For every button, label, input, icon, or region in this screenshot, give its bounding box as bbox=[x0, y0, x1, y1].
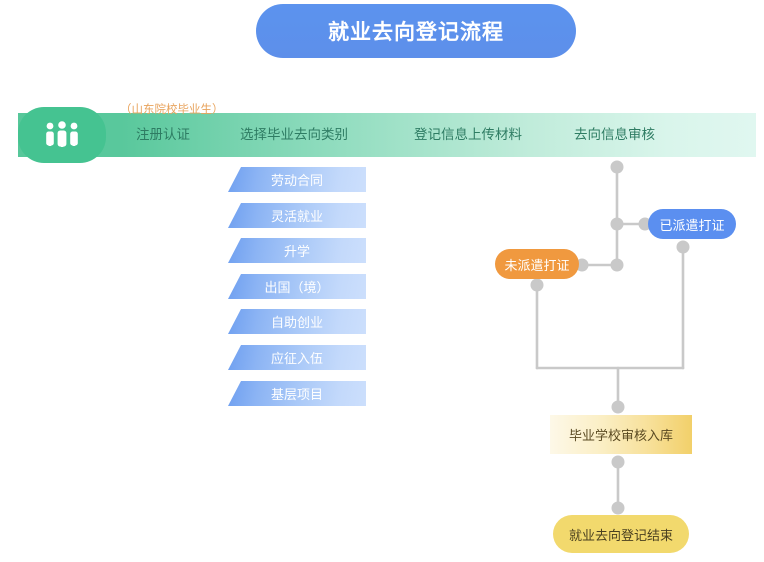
category-chip-go-abroad[interactable]: 出国（境） bbox=[228, 274, 366, 299]
node-school-review[interactable]: 毕业学校审核入库 bbox=[550, 415, 692, 454]
people-group-icon bbox=[18, 107, 106, 163]
step-choose-category[interactable]: 选择毕业去向类别 bbox=[240, 113, 348, 157]
flowchart-canvas: 就业去向登记流程 bbox=[0, 0, 764, 562]
node-dispatched[interactable]: 已派遣打证 bbox=[648, 209, 736, 239]
node-process-end[interactable]: 就业去向登记结束 bbox=[553, 515, 689, 553]
category-chip-military-service[interactable]: 应征入伍 bbox=[228, 345, 366, 370]
category-chip-flexible-employment[interactable]: 灵活就业 bbox=[228, 203, 366, 228]
step-upload-material[interactable]: 登记信息上传材料 bbox=[414, 113, 522, 157]
header-note: （山东院校毕业生） bbox=[120, 101, 224, 117]
category-chip-grassroots-project[interactable]: 基层项目 bbox=[228, 381, 366, 406]
page-title: 就业去向登记流程 bbox=[256, 4, 576, 58]
connector-lines bbox=[0, 0, 764, 562]
category-chip-further-study[interactable]: 升学 bbox=[228, 238, 366, 263]
node-not-dispatched[interactable]: 未派遣打证 bbox=[495, 249, 579, 279]
category-chip-self-employment[interactable]: 自助创业 bbox=[228, 309, 366, 334]
step-register-auth[interactable]: 注册认证 bbox=[136, 113, 190, 157]
process-steps: 注册认证 选择毕业去向类别 登记信息上传材料 去向信息审核 bbox=[18, 113, 756, 157]
step-info-review[interactable]: 去向信息审核 bbox=[574, 113, 655, 157]
category-chip-labor-contract[interactable]: 劳动合同 bbox=[228, 167, 366, 192]
